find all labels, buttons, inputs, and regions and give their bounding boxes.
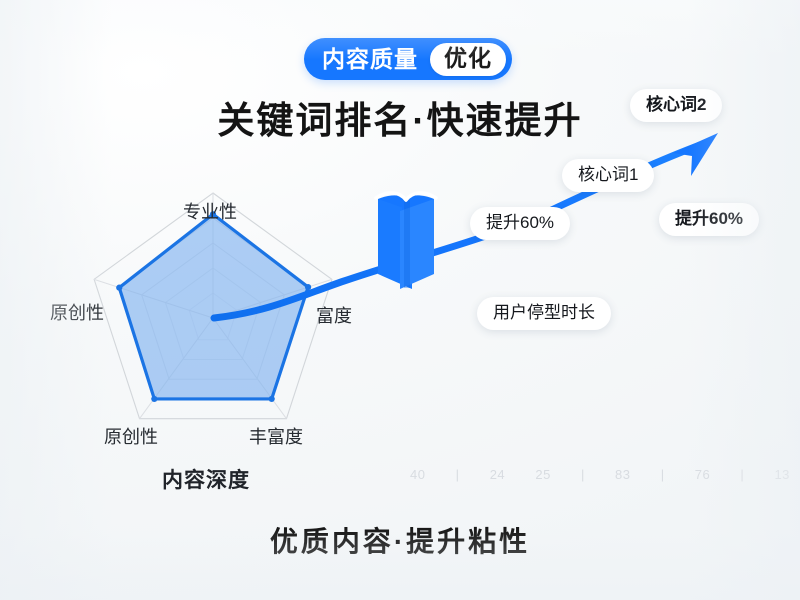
callout-uplift-left[interactable]: 提升60% xyxy=(470,207,570,240)
callout-keyword-1[interactable]: 核心词1 xyxy=(562,159,654,192)
tick-value: 40 xyxy=(410,467,425,482)
tick-value: | xyxy=(581,467,585,482)
tick-value: 13 xyxy=(774,467,789,482)
content-depth-label: 内容深度 xyxy=(162,464,250,494)
tick-value: 25 xyxy=(535,467,550,482)
callout-keyword-2[interactable]: 核心词2 xyxy=(630,89,722,122)
tick-value: | xyxy=(456,467,460,482)
axis-tick-strip: 40 | 24 25 | 83 | 76 | 13 xyxy=(410,462,790,486)
footer-title: 优质内容·提升粘性 xyxy=(0,520,800,560)
tick-value: 83 xyxy=(615,467,630,482)
tick-value: | xyxy=(661,467,665,482)
callout-uplift-right[interactable]: 提升60% xyxy=(659,203,759,236)
callout-dwell-time[interactable]: 用户停型时长 xyxy=(477,297,611,330)
tick-value: 76 xyxy=(695,467,710,482)
poster-canvas: 内容质量 优化 关键词排名·快速提升 xyxy=(0,0,800,600)
tick-value: | xyxy=(740,467,744,482)
tick-value: 24 xyxy=(490,467,505,482)
